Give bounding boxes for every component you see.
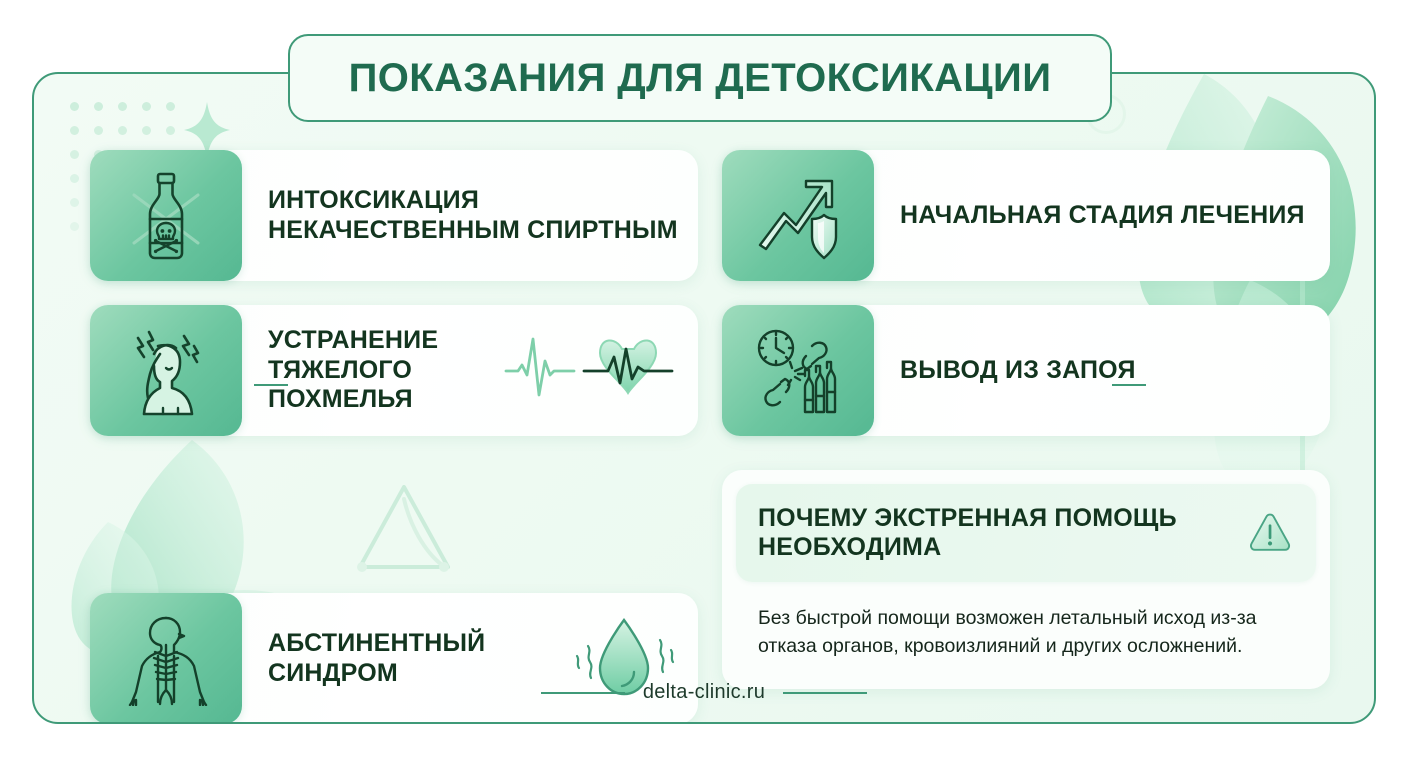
heartbeat-pulse-decoration (504, 331, 698, 410)
card-label: АБСТИНЕНТНЫЙ СИНДРОМ (242, 629, 568, 688)
card-hangover[interactable]: УСТРАНЕНИЕ ТЯЖЕЛОГО ПОХМЕЛЬЯ (90, 305, 698, 436)
clock-broken-chain-bottles-icon-tile (722, 305, 874, 436)
right-card-column: НАЧАЛЬНАЯ СТАДИЯ ЛЕЧЕНИЯ (722, 150, 1330, 689)
footer: delta-clinic.ru (34, 681, 1374, 704)
card-binge-withdrawal[interactable]: ВЫВОД ИЗ ЗАПОЯ (722, 305, 1330, 436)
headache-person-icon (122, 324, 210, 418)
card-emergency-help[interactable]: ПОЧЕМУ ЭКСТРЕННАЯ ПОМОЩЬ НЕОБХОДИМА Без … (722, 470, 1330, 689)
footer-rule-left (541, 692, 625, 694)
title-tick-left (254, 384, 288, 386)
page-title-badge: ПОКАЗАНИЯ ДЛЯ ДЕТОКСИКАЦИИ (288, 34, 1112, 122)
growth-arrow-shield-icon-tile (722, 150, 874, 281)
poison-bottle-icon-tile (90, 150, 242, 281)
nervous-system-body-icon-tile (90, 593, 242, 724)
footer-url: delta-clinic.ru (643, 681, 765, 704)
emergency-heading: ПОЧЕМУ ЭКСТРЕННАЯ ПОМОЩЬ НЕОБХОДИМА (758, 504, 1246, 563)
card-label: ИНТОКСИКАЦИЯ НЕКАЧЕСТВЕННЫМ СПИРТНЫМ (242, 186, 698, 245)
card-withdrawal-syndrome[interactable]: АБСТИНЕНТНЫЙ СИНДРОМ (90, 593, 698, 724)
emergency-header-panel: ПОЧЕМУ ЭКСТРЕННАЯ ПОМОЩЬ НЕОБХОДИМА (736, 484, 1316, 582)
growth-arrow-shield-icon (754, 169, 842, 263)
card-intoxication[interactable]: ИНТОКСИКАЦИЯ НЕКАЧЕСТВЕННЫМ СПИРТНЫМ (90, 150, 698, 281)
warning-triangle-icon (1246, 503, 1294, 563)
clock-broken-chain-bottles-icon (754, 324, 842, 418)
heartbeat-pulse-icon (504, 331, 676, 405)
card-label: ВЫВОД ИЗ ЗАПОЯ (874, 356, 1330, 386)
poison-bottle-icon (122, 169, 210, 263)
footer-rule-right (783, 692, 867, 694)
card-label: НАЧАЛЬНАЯ СТАДИЯ ЛЕЧЕНИЯ (874, 201, 1330, 231)
page-title: ПОКАЗАНИЯ ДЛЯ ДЕТОКСИКАЦИИ (349, 56, 1052, 101)
infographic-frame: ИНТОКСИКАЦИЯ НЕКАЧЕСТВЕННЫМ СПИРТНЫМ (32, 72, 1376, 724)
card-label: УСТРАНЕНИЕ ТЯЖЕЛОГО ПОХМЕЛЬЯ (242, 326, 504, 415)
emergency-body-text: Без быстрой помощи возможен летальный ис… (736, 582, 1316, 667)
left-card-column: ИНТОКСИКАЦИЯ НЕКАЧЕСТВЕННЫМ СПИРТНЫМ (90, 150, 698, 724)
card-initial-treatment-stage[interactable]: НАЧАЛЬНАЯ СТАДИЯ ЛЕЧЕНИЯ (722, 150, 1330, 281)
title-tick-right (1112, 384, 1146, 386)
headache-person-icon-tile (90, 305, 242, 436)
